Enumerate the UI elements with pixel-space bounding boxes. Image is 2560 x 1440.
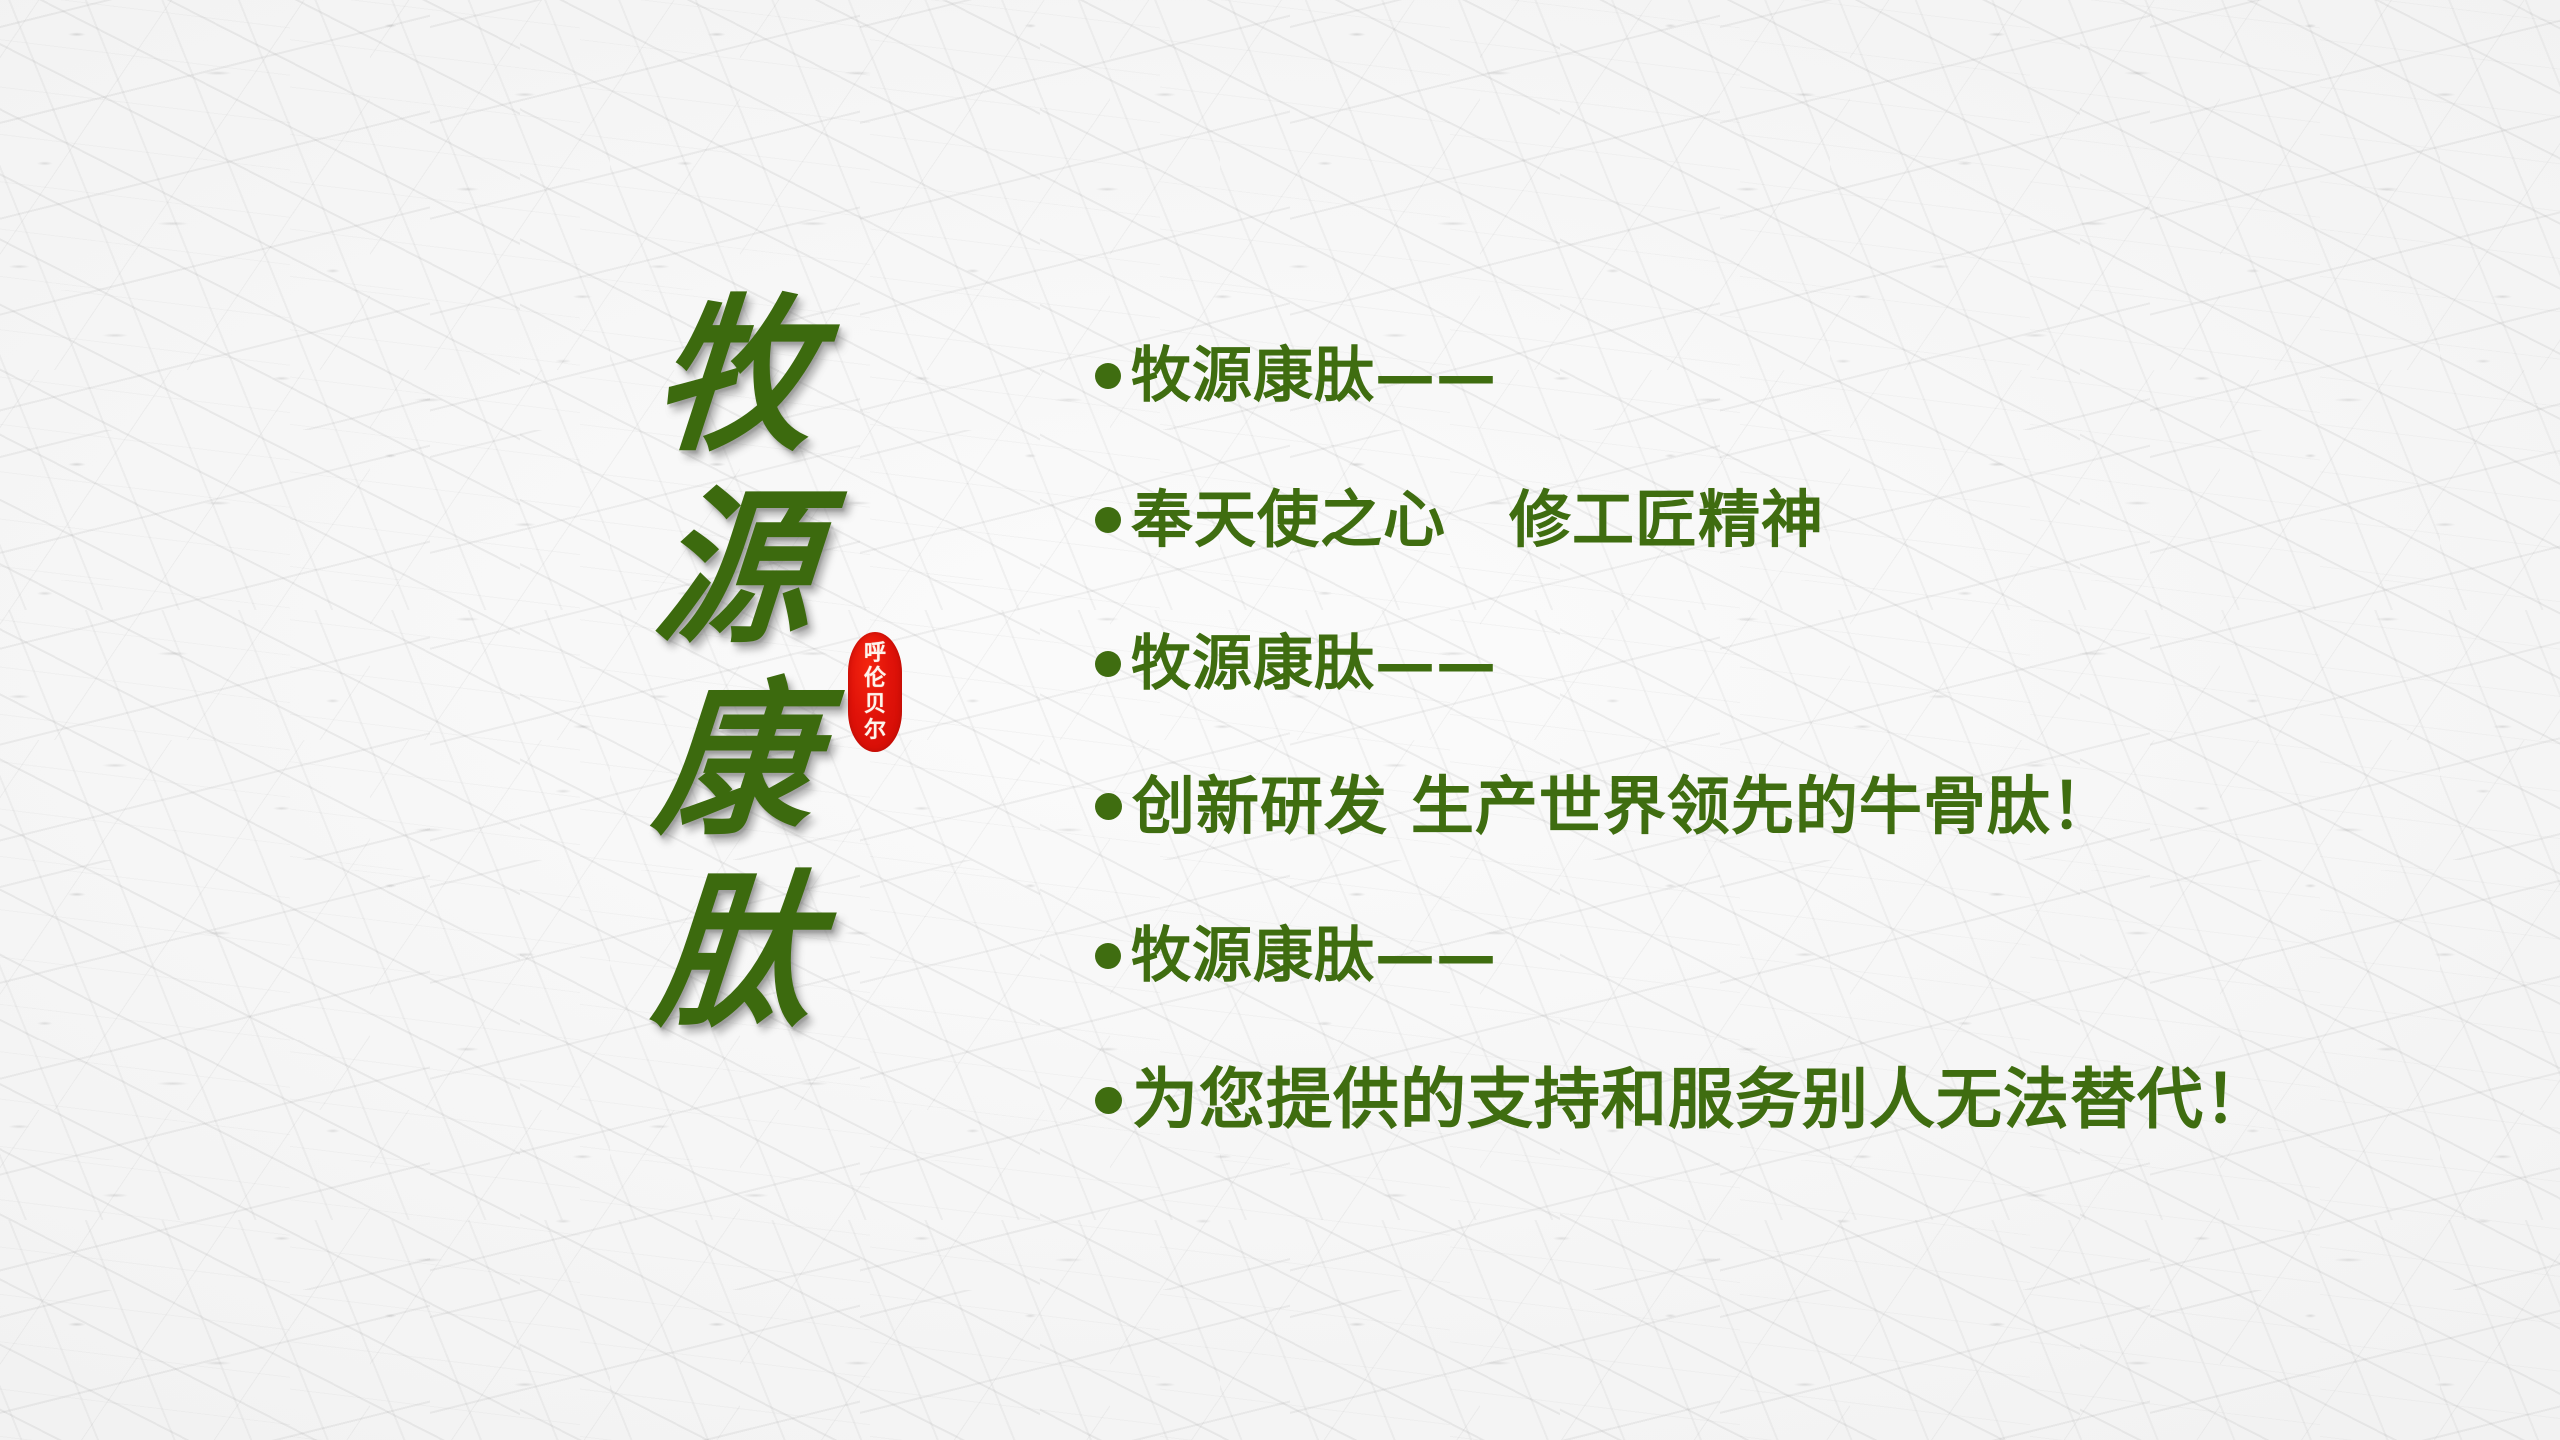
- bullet-text-5: 牧源康肽——: [1131, 926, 1497, 986]
- bullet-item-6: 为您提供的支持和服务别人无法替代！: [1095, 1050, 2435, 1150]
- seal-char-3: 贝: [864, 692, 886, 718]
- bullet-text-2: 奉天使之心 修工匠精神: [1131, 489, 1824, 551]
- bullet-item-2: 奉天使之心 修工匠精神: [1095, 474, 2435, 566]
- seal-char-4: 尔: [864, 718, 886, 744]
- bullet-gap-1: [1095, 422, 2435, 474]
- hulunbuir-seal-stamp: 呼 伦 贝 尔: [848, 632, 902, 752]
- bullet-gap-4: [1095, 856, 2435, 908]
- bullet-dot-icon: [1095, 507, 1121, 533]
- bullet-item-5: 牧源康肽——: [1095, 908, 2435, 1004]
- bullet-text-3: 牧源康肽——: [1131, 634, 1497, 694]
- bullet-dot-icon: [1095, 943, 1121, 969]
- bullet-dot-icon: [1095, 1087, 1122, 1114]
- bullet-gap-2: [1095, 566, 2435, 618]
- bullet-text-6: 为您提供的支持和服务别人无法替代！: [1132, 1067, 2271, 1133]
- bullet-text-1: 牧源康肽——: [1131, 346, 1497, 406]
- seal-char-1: 呼: [864, 641, 886, 667]
- title-char-3: 康: [649, 676, 822, 843]
- title-char-1: 牧: [649, 292, 822, 459]
- slide-canvas: 牧 源 康 肽 呼 伦 贝 尔 牧源康肽—— 奉天使之心 修工匠精神 牧源康肽—…: [0, 0, 2560, 1440]
- bullet-dot-icon: [1095, 363, 1121, 389]
- bullet-item-3: 牧源康肽——: [1095, 618, 2435, 710]
- seal-char-2: 伦: [864, 666, 886, 692]
- bullet-gap-3: [1095, 710, 2435, 756]
- bullet-gap-5: [1095, 1004, 2435, 1050]
- brand-title-vertical: 牧 源 康 肽: [630, 300, 840, 1028]
- title-char-4: 肽: [649, 868, 822, 1035]
- bullet-item-4: 创新研发 生产世界领先的牛骨肽！: [1095, 756, 2435, 856]
- bullet-text-4: 创新研发 生产世界领先的牛骨肽！: [1132, 775, 2115, 838]
- title-char-2: 源: [649, 484, 822, 651]
- bullet-dot-icon: [1095, 793, 1122, 820]
- bullet-list: 牧源康肽—— 奉天使之心 修工匠精神 牧源康肽—— 创新研发 生产世界领先的牛骨…: [1095, 330, 2435, 1150]
- bullet-dot-icon: [1095, 651, 1121, 677]
- bullet-item-1: 牧源康肽——: [1095, 330, 2435, 422]
